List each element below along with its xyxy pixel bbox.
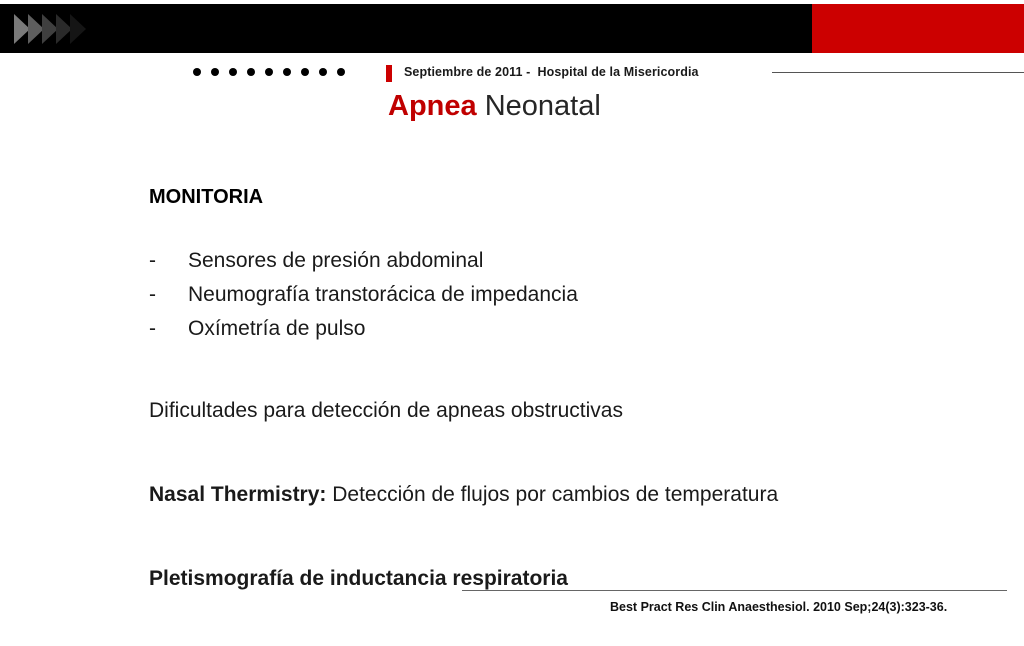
footer-citation: Best Pract Res Clin Anaesthesiol. 2010 S… <box>610 600 947 614</box>
dot-icon <box>247 68 255 76</box>
dot-icon <box>337 68 345 76</box>
dot-icon <box>301 68 309 76</box>
list-item-label: Oxímetría de pulso <box>188 312 365 346</box>
slide-body: MONITORIA - Sensores de presión abdomina… <box>149 182 1009 646</box>
page-title-highlight: Apnea <box>388 90 477 122</box>
footer-divider-rule <box>462 590 1007 591</box>
bullet-dash-marker: - <box>149 312 188 346</box>
bullet-dash-marker: - <box>149 244 188 278</box>
dot-icon <box>229 68 237 76</box>
red-tick-marker <box>386 65 392 82</box>
decorative-dots-row <box>193 68 355 76</box>
page-title: Apnea Neonatal <box>388 90 601 123</box>
bullet-list: - Sensores de presión abdominal - Neumog… <box>149 244 1009 346</box>
dot-icon <box>283 68 291 76</box>
dot-icon <box>193 68 201 76</box>
top-banner-red-accent <box>812 4 1024 53</box>
list-item: - Sensores de presión abdominal <box>149 244 1009 278</box>
dot-icon <box>211 68 219 76</box>
list-item-label: Sensores de presión abdominal <box>188 244 483 278</box>
dot-icon <box>265 68 273 76</box>
dot-icon <box>319 68 327 76</box>
nasal-thermistry-rest: Detección de flujos por cambios de tempe… <box>326 483 778 506</box>
body-paragraph-difficulties: Dificultades para detección de apneas ob… <box>149 394 1009 428</box>
page-title-rest: Neonatal <box>477 90 601 122</box>
list-item-label: Neumografía transtorácica de impedancia <box>188 278 578 312</box>
chevron-arrows-group <box>14 14 84 44</box>
list-item: - Oxímetría de pulso <box>149 312 1009 346</box>
section-heading: MONITORIA <box>149 182 1009 212</box>
body-paragraph-nasal-thermistry: Nasal Thermistry: Detección de flujos po… <box>149 478 1009 512</box>
bullet-dash-marker: - <box>149 278 188 312</box>
nasal-thermistry-lead: Nasal Thermistry: <box>149 483 326 506</box>
header-divider-rule <box>772 72 1024 73</box>
chevron-right-icon <box>70 14 86 44</box>
header-kicker: Septiembre de 2011 - Hospital de la Mise… <box>404 65 699 79</box>
list-item: - Neumografía transtorácica de impedanci… <box>149 278 1009 312</box>
